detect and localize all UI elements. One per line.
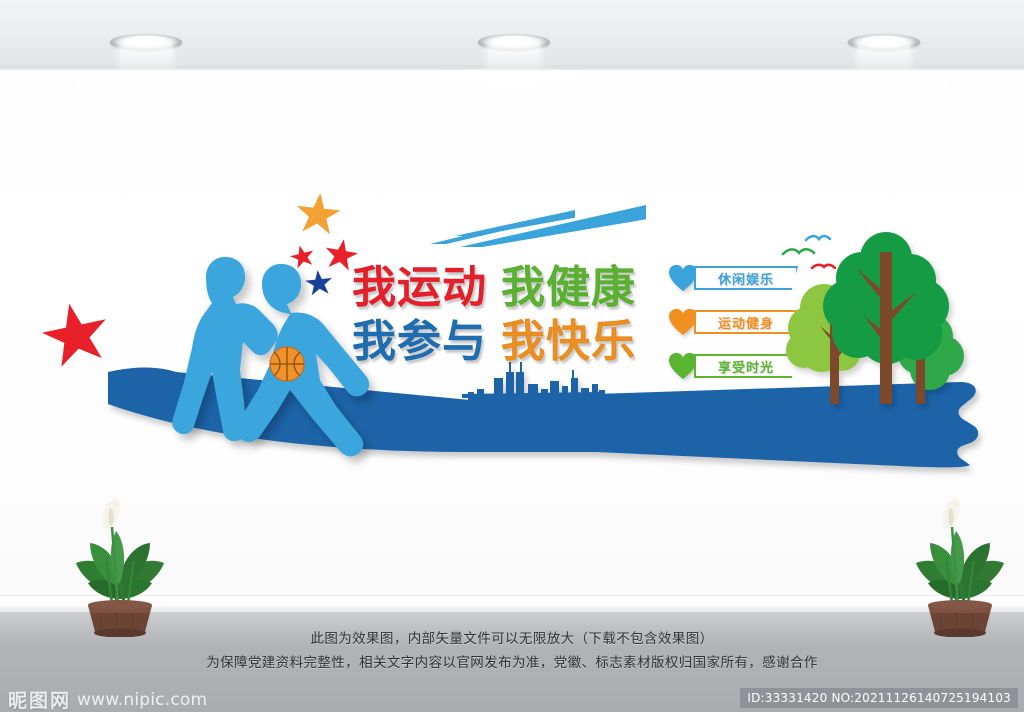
mural-title: 我运动 我健康 我参与 我快乐 [352,266,672,364]
heart-icon [668,264,698,292]
badge-enjoy-time: 享受时光 [668,350,798,384]
wall-mural-scene: 我运动 我健康 我参与 我快乐 休闲娱乐 [0,0,1024,712]
plant-leaves [916,531,1004,605]
title-line-1: 我运动 我健康 [352,266,672,310]
heart-icon [668,352,698,380]
badge-label: 休闲娱乐 [718,269,774,288]
site-watermark: 昵图网 www.nipic.com [8,686,207,712]
potted-plant-right [900,487,1020,637]
title-word-wo-kuai-le: 我快乐 [501,320,636,364]
badge-label: 享受时光 [718,357,774,376]
plant-leaves [76,531,164,605]
badge-sports-fitness: 运动健身 [668,306,798,340]
badge-list: 休闲娱乐 运动健身 享受时光 [668,262,798,394]
heart-icon [668,308,698,336]
title-word-wo-jian-kang: 我健康 [501,266,636,310]
potted-plant-left [60,487,180,637]
trees-group [780,212,1000,432]
disclaimer-line-2: 为保障党建资料完整性，相关文字内容以官网发布为准，党徽、标志素材版权归国家所有，… [0,652,1024,674]
image-id-code: ID:33331420 NO:20211126140725194103 [740,688,1018,708]
basketball-icon [268,345,306,383]
title-word-wo-yun-dong: 我运动 [352,266,487,310]
birds-group [783,236,835,268]
title-line-2: 我参与 我快乐 [352,320,672,364]
nipic-url: www.nipic.com [77,690,207,710]
nipic-logo: 昵图网 [8,686,71,712]
badge-label: 运动健身 [718,313,774,332]
footer-disclaimer: 此图为效果图，内部矢量文件可以无限放大（下载不包含效果图） 为保障党建资料完整性… [0,628,1024,674]
title-word-wo-can-yu: 我参与 [352,320,487,364]
disclaimer-line-1: 此图为效果图，内部矢量文件可以无限放大（下载不包含效果图） [0,628,1024,650]
badge-leisure-entertainment: 休闲娱乐 [668,262,798,296]
